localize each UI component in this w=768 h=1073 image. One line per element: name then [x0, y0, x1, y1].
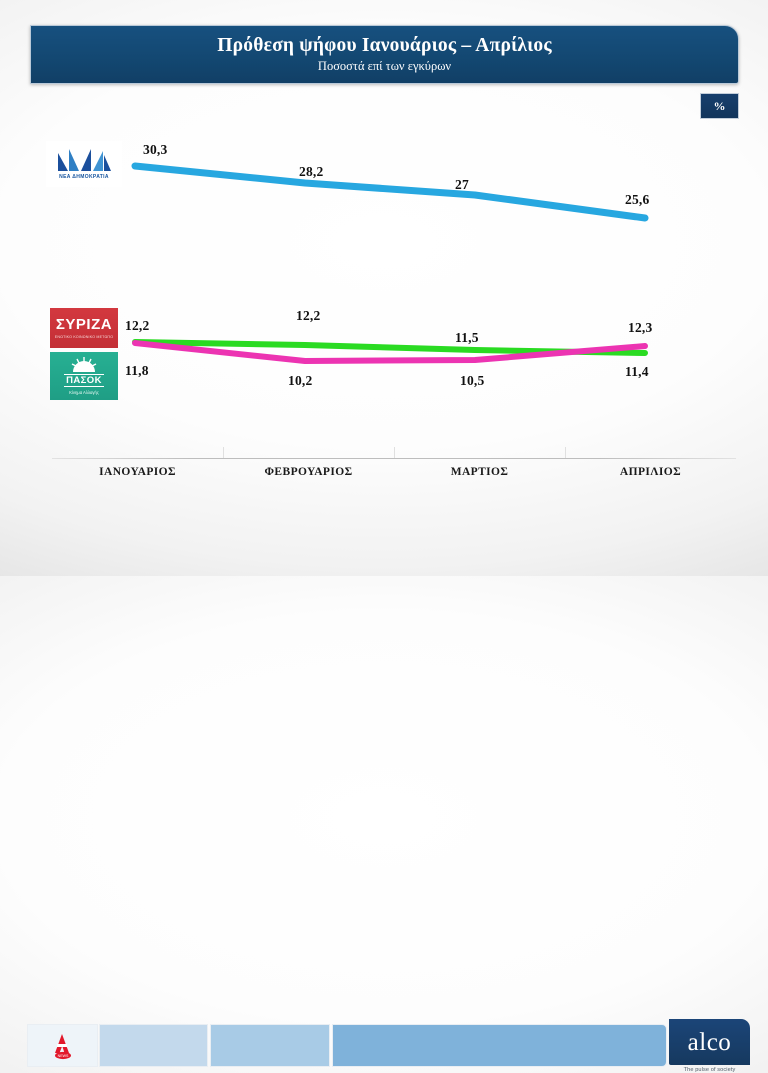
alpha-news-icon: NEWS [48, 1031, 78, 1061]
axis-label-month-4: ΑΠΡΙΛΙΟΣ [565, 466, 736, 488]
data-label-pasok-4: 11,4 [625, 364, 649, 380]
axis-label-month-1: ΙΑΝΟΥΑΡΙΟΣ [52, 466, 223, 488]
data-label-syriza-4: 12,3 [628, 320, 652, 336]
chart-lines-svg [0, 120, 768, 465]
footer-bar: NEWS alco The pulse of society [0, 505, 768, 576]
data-label-pasok-2: 12,2 [296, 308, 320, 324]
axis-label-month-3: ΜΑΡΤΙΟΣ [394, 466, 565, 488]
data-label-syriza-1: 11,8 [125, 363, 149, 379]
alco-tagline: The pulse of society [669, 1067, 750, 1073]
data-label-nd-4: 25,6 [625, 192, 649, 208]
x-axis-ticks [52, 447, 736, 458]
data-label-nd-1: 30,3 [143, 142, 167, 158]
footer-alpha-logo-block: NEWS [27, 1024, 98, 1067]
data-label-syriza-3: 10,5 [460, 373, 484, 389]
x-axis-line [52, 458, 736, 459]
data-label-pasok-3: 11,5 [455, 330, 479, 346]
x-axis-labels: ΙΑΝΟΥΑΡΙΟΣ ΦΕΒΡΟΥΑΡΙΟΣ ΜΑΡΤΙΟΣ ΑΠΡΙΛΙΟΣ [52, 466, 736, 488]
page-title: Πρόθεση ψήφου Ιανουάριος – Απρίλιος [217, 35, 552, 56]
data-label-syriza-2: 10,2 [288, 373, 312, 389]
footer-block-1 [99, 1024, 208, 1067]
series-line-nd [135, 166, 645, 218]
page-subtitle: Ποσοστά επί των εγκύρων [318, 60, 451, 74]
alco-logo-text: alco [688, 1030, 732, 1055]
footer-block-3 [332, 1024, 667, 1067]
data-label-nd-3: 27 [455, 177, 469, 193]
chart-plot-area: 30,3 28,2 27 25,6 12,2 12,2 11,5 11,4 11… [0, 120, 768, 465]
axis-label-month-2: ΦΕΒΡΟΥΑΡΙΟΣ [223, 466, 394, 488]
alco-logo: alco [669, 1019, 750, 1065]
slide-root: Πρόθεση ψήφου Ιανουάριος – Απρίλιος Ποσο… [0, 0, 768, 576]
data-label-pasok-1: 12,2 [125, 318, 149, 334]
footer-block-2 [210, 1024, 330, 1067]
title-bar: Πρόθεση ψήφου Ιανουάριος – Απρίλιος Ποσο… [30, 25, 739, 84]
svg-text:NEWS: NEWS [57, 1054, 68, 1058]
data-label-nd-2: 28,2 [299, 164, 323, 180]
percent-badge: % [700, 93, 739, 119]
